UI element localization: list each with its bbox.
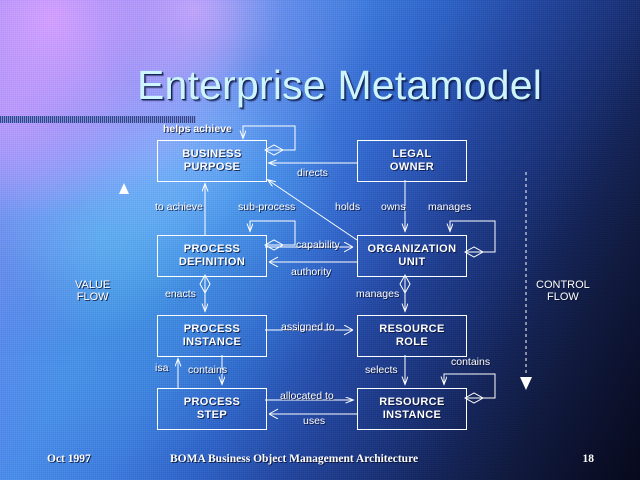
edge-label-helps-achieve: helps achieve [163,124,232,135]
edge-label-sub-process: sub-process [238,202,295,213]
edge-label-assigned-to: assigned to [281,322,335,333]
edge-label-manages-self: manages [428,202,471,213]
edge-label-to-achieve: to achieve [155,202,203,213]
node-process-step[interactable]: PROCESS STEP [157,388,267,430]
node-process-instance[interactable]: PROCESS INSTANCE [157,315,267,357]
node-label-line1: LEGAL [390,148,434,161]
value-flow-label: VALUE FLOW [75,279,110,303]
edge-label-holds: holds [335,202,360,213]
node-label-line2: STEP [184,409,241,422]
node-organization-unit[interactable]: ORGANIZATION UNIT [357,235,467,277]
control-flow-label: CONTROL FLOW [536,279,590,303]
node-label-line1: RESOURCE [379,396,445,409]
footer-page-number: 18 [583,453,595,465]
slide-canvas: Enterprise Metamodel [0,0,640,480]
node-resource-instance[interactable]: RESOURCE INSTANCE [357,388,467,430]
edge-label-allocated-to: allocated to [280,391,334,402]
node-business-purpose[interactable]: BUSINESS PURPOSE [157,140,267,182]
node-label-line1: PROCESS [183,323,242,336]
edge-label-directs: directs [297,168,328,179]
control-flow-line2: FLOW [536,291,590,303]
node-label-line2: PURPOSE [182,161,241,174]
edge-label-capability: capability [296,240,340,251]
node-label-line1: RESOURCE [379,323,445,336]
footer-date: Oct 1997 [47,453,91,465]
node-process-definition[interactable]: PROCESS DEFINITION [157,235,267,277]
edge-label-authority: authority [291,267,331,278]
footer-title: BOMA Business Object Management Architec… [170,453,418,465]
node-label-line2: UNIT [368,256,457,269]
value-flow-line1: VALUE [75,279,110,291]
node-label-line2: INSTANCE [379,409,445,422]
node-label-line1: PROCESS [184,396,241,409]
node-label-line2: ROLE [379,336,445,349]
node-label-line2: INSTANCE [183,336,242,349]
edge-label-uses: uses [303,416,325,427]
node-legal-owner[interactable]: LEGAL OWNER [357,140,467,182]
node-resource-role[interactable]: RESOURCE ROLE [357,315,467,357]
control-flow-line1: CONTROL [536,279,590,291]
node-label-line2: OWNER [390,161,434,174]
node-label-line1: ORGANIZATION [368,243,457,256]
node-label-line2: DEFINITION [179,256,245,269]
edge-label-owns: owns [381,202,406,213]
node-label-line1: BUSINESS [182,148,241,161]
edge-label-selects: selects [365,365,398,376]
edge-label-isa: isa [155,363,168,374]
edge-label-enacts: enacts [165,289,196,300]
slide-footer: Oct 1997 BOMA Business Object Management… [0,442,640,480]
edge-label-manages: manages [356,289,399,300]
edge-label-contains-res: contains [451,357,490,368]
edge-label-contains-proc: contains [188,365,227,376]
value-flow-line2: FLOW [75,291,110,303]
node-label-line1: PROCESS [179,243,245,256]
